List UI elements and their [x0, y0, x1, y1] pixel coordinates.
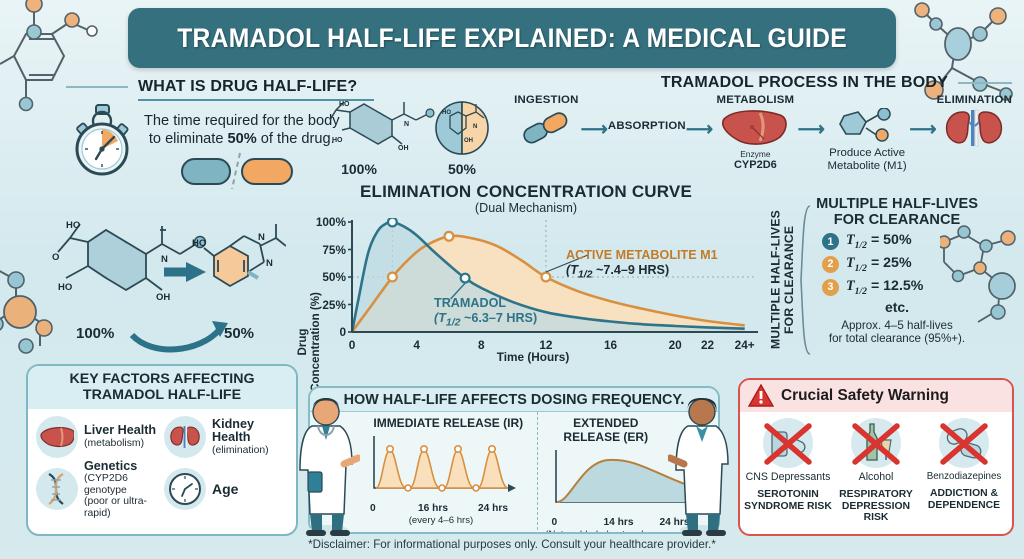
process-stage-metabolite: Produce Active Metabolite (M1) [825, 94, 910, 173]
svg-text:OH: OH [398, 145, 409, 152]
key-factors-header: KEY FACTORS AFFECTING TRAMADOL HALF-LIFE [28, 366, 296, 409]
warning-substance: Benzodiazepines [920, 471, 1008, 482]
er-tick-0: 0 [552, 517, 558, 528]
half-life-item: 1T1/2 = 50% [822, 232, 982, 251]
multiple-half-lives-content: MULTIPLE HALF-LIVES FOR CLEARANCE 1T1/2 … [812, 196, 982, 346]
chart-y-tick: 50% [322, 270, 346, 284]
arrow-icon-3: ⟶ [798, 120, 825, 139]
chart-y-tick: 0 [339, 325, 346, 339]
chart-y-tick: 75% [322, 243, 346, 257]
metabolite-molecule-icon [836, 108, 898, 142]
key-factor-kidney: KidneyHealth (elimination) [164, 416, 288, 458]
arrow-icon-1: ⟶ [581, 120, 608, 139]
stopwatch-icon [66, 103, 138, 179]
dosing-frequency-card: HOW HALF-LIFE AFFECTS DOSING FREQUENCY. … [308, 386, 720, 534]
chart-title: ELIMINATION CONCENTRATION CURVE [286, 182, 766, 202]
svg-text:HO: HO [339, 101, 350, 108]
factor-sub: (CYP2D6 genotype (poor or ultra-rapid) [84, 473, 160, 519]
pills-blocked-icon [763, 418, 813, 468]
warning-risk: SEROTONIN SYNDROME RISK [744, 489, 832, 512]
doctor-female-icon [668, 394, 732, 536]
elimination-curve-chart: ELIMINATION CONCENTRATION CURVE (Dual Me… [286, 182, 766, 364]
curved-arrow-icon [128, 319, 236, 359]
chart-x-axis-label: Time (Hours) [326, 350, 740, 364]
svg-text:HO: HO [66, 220, 80, 231]
half-life-item: 3T1/2 = 12.5% [822, 278, 982, 297]
process-stage-elimination: ELIMINATION [937, 94, 1012, 153]
page-header: TRAMADOL HALF-LIFE EXPLAINED: A MEDICAL … [128, 8, 896, 68]
svg-text:N: N [404, 121, 409, 128]
key-factors-card: KEY FACTORS AFFECTING TRAMADOL HALF-LIFE… [26, 364, 298, 536]
chart-y-tick: 25% [322, 298, 346, 312]
what-is-half-life-title: WHAT IS DRUG HALF-LIFE? [138, 78, 357, 96]
svg-text:HO: HO [332, 137, 343, 144]
chart-y-ticks: 025%50%75%100% [300, 218, 346, 334]
molecule-conversion-mid: HO O HO N OH HO N N 100% 50% [36, 212, 286, 342]
svg-text:HO: HO [58, 282, 72, 293]
rule-left [66, 86, 128, 88]
warning-item-benzo: Benzodiazepines ADDICTION & DEPENDENCE [920, 418, 1008, 524]
factor-title: Age [212, 482, 238, 497]
process-stage-ingestion: INGESTION [512, 94, 581, 149]
brace-icon [800, 204, 812, 356]
half-life-description: The time required for the body to elimin… [144, 113, 340, 149]
benzo-blocked-icon [939, 418, 989, 468]
key-factors-grid: Liver Health (metabolism) KidneyHealth (… [28, 409, 296, 526]
key-factor-age: Age [164, 460, 288, 519]
half-life-list: 1T1/2 = 50%2T1/2 = 25%3T1/2 = 12.5% [812, 232, 982, 296]
svg-text:HO: HO [192, 238, 206, 249]
warning-title: Crucial Safety Warning [781, 387, 949, 405]
molecule-structures-mid: HO O HO N OH HO N N [36, 212, 286, 320]
half-life-number-badge: 1 [822, 233, 839, 250]
dna-icon [36, 468, 78, 510]
warning-header: Crucial Safety Warning [740, 380, 1012, 412]
alcohol-blocked-icon [851, 418, 901, 468]
safety-warning-card: Crucial Safety Warning CNS Depressants S… [738, 378, 1014, 536]
svg-text:HO: HO [442, 110, 451, 116]
multiple-half-lives-section: MULTIPLE HALF-LIVES FOR CLEARANCE MULTIP… [766, 196, 1024, 366]
warning-triangle-icon [748, 384, 774, 408]
metabolite-note: Produce Active Metabolite (M1) [825, 147, 910, 173]
process-stage-metabolism: METABOLISM Enzyme CYP2D6 [713, 94, 798, 171]
kidneys-icon [943, 108, 1005, 148]
svg-text:N: N [266, 258, 273, 269]
clearance-note: Approx. 4–5 half-lives for total clearan… [812, 319, 982, 347]
page-title: TRAMADOL HALF-LIFE EXPLAINED: A MEDICAL … [177, 23, 847, 54]
liver-icon [36, 416, 78, 458]
ir-tick-16: 16 hrs [418, 503, 448, 514]
dosing-title: HOW HALF-LIFE AFFECTS DOSING FREQUENCY. [312, 392, 716, 408]
chart-header: ELIMINATION CONCENTRATION CURVE (Dual Me… [286, 182, 766, 215]
chart-label-tramadol: TRAMADOL (T1/2 ~6.3–7 HRS) [434, 296, 537, 329]
er-tick-14: 14 hrs [604, 517, 634, 528]
tramadol-process-section: TRAMADOL PROCESS IN THE BODY INGESTION ⟶… [512, 74, 1012, 184]
half-life-value: T1/2 = 12.5% [846, 278, 923, 297]
half-life-value: T1/2 = 50% [846, 232, 912, 251]
multiple-half-lives-side-label: MULTIPLE HALF-LIVES FOR CLEARANCE [768, 196, 798, 364]
mid-molecule-before-label: 100% [76, 325, 114, 342]
doctor-male-icon [296, 394, 360, 536]
svg-text:O: O [52, 252, 59, 263]
warning-substance: Alcohol [832, 471, 920, 483]
factor-sub: (elimination) [212, 445, 269, 456]
process-title: TRAMADOL PROCESS IN THE BODY [661, 74, 948, 92]
kidneys-icon [164, 416, 206, 458]
dosing-columns: IMMEDIATE RELEASE (IR) 0 16 hrs 24 hrs (… [310, 412, 718, 530]
warning-substance: CNS Depressants [744, 471, 832, 483]
rule-right [958, 82, 1012, 84]
dosing-header: HOW HALF-LIFE AFFECTS DOSING FREQUENCY. [310, 388, 718, 412]
molecule-before-label: 100% [324, 161, 394, 177]
chart-subtitle: (Dual Mechanism) [286, 201, 766, 215]
chart-label-m1: ACTIVE METABOLITE M1 (T1/2 ~7.4–9 HRS) [566, 248, 718, 281]
factor-sub: (metabolism) [84, 438, 156, 449]
warning-items: CNS Depressants SEROTONIN SYNDROME RISK … [740, 412, 1012, 524]
tramadol-halflife-annotation: (T1/2 ~6.3–7 HRS) [434, 311, 537, 325]
arrow-icon-2: ⟶ [686, 120, 713, 139]
svg-text:OH: OH [464, 138, 473, 144]
warning-item-cns: CNS Depressants SEROTONIN SYNDROME RISK [744, 418, 832, 524]
process-stage-absorption: ABSORPTION [608, 120, 686, 132]
half-life-value: T1/2 = 25% [846, 255, 912, 274]
ir-chart [366, 432, 516, 498]
svg-text:N: N [161, 254, 168, 265]
ir-tick-0: 0 [370, 503, 376, 514]
svg-text:OH: OH [156, 292, 170, 303]
split-capsule-icon [176, 151, 302, 189]
key-factor-liver: Liver Health (metabolism) [36, 416, 160, 458]
factor-title: Genetics [84, 460, 160, 474]
multiple-half-lives-title: MULTIPLE HALF-LIVES FOR CLEARANCE [812, 196, 982, 228]
svg-text:N: N [258, 232, 265, 243]
warning-risk: RESPIRATORY DEPRESSION RISK [832, 489, 920, 524]
warning-item-alcohol: Alcohol RESPIRATORY DEPRESSION RISK [832, 418, 920, 524]
ir-note: (every 4–6 hrs) [366, 516, 516, 527]
capsule-icon [518, 110, 574, 144]
disclaimer: *Disclaimer: For informational purposes … [0, 538, 1024, 551]
enzyme-name: CYP2D6 [713, 159, 798, 171]
arrow-icon-4: ⟶ [909, 120, 936, 139]
chart-y-tick: 100% [316, 215, 346, 229]
svg-text:N: N [473, 124, 477, 130]
clock-icon [164, 468, 206, 510]
etc-label: etc. [812, 299, 982, 315]
key-factor-genetics: Genetics (CYP2D6 genotype (poor or ultra… [36, 460, 160, 519]
liver-icon [718, 107, 792, 147]
warning-risk: ADDICTION & DEPENDENCE [920, 488, 1008, 511]
chart-plot-area: Drug Concentration (%) 025%50%75%100% 04… [286, 218, 766, 364]
ir-heading: IMMEDIATE RELEASE (IR) [366, 416, 531, 430]
enzyme-sub-label: Enzyme [713, 149, 798, 159]
half-life-number-badge: 3 [822, 279, 839, 296]
factor-title: KidneyHealth [212, 418, 269, 445]
ir-tick-24: 24 hrs [478, 503, 508, 514]
molecule-after-label: 50% [432, 161, 492, 177]
key-factors-title: KEY FACTORS AFFECTING TRAMADOL HALF-LIFE [32, 372, 292, 404]
half-life-item: 2T1/2 = 25% [822, 255, 982, 274]
m1-halflife-annotation: (T1/2 ~7.4–9 HRS) [566, 263, 669, 277]
half-life-number-badge: 2 [822, 256, 839, 273]
molecule-half-icon: HO N OH [432, 98, 492, 156]
factor-title: Liver Health [84, 424, 156, 438]
